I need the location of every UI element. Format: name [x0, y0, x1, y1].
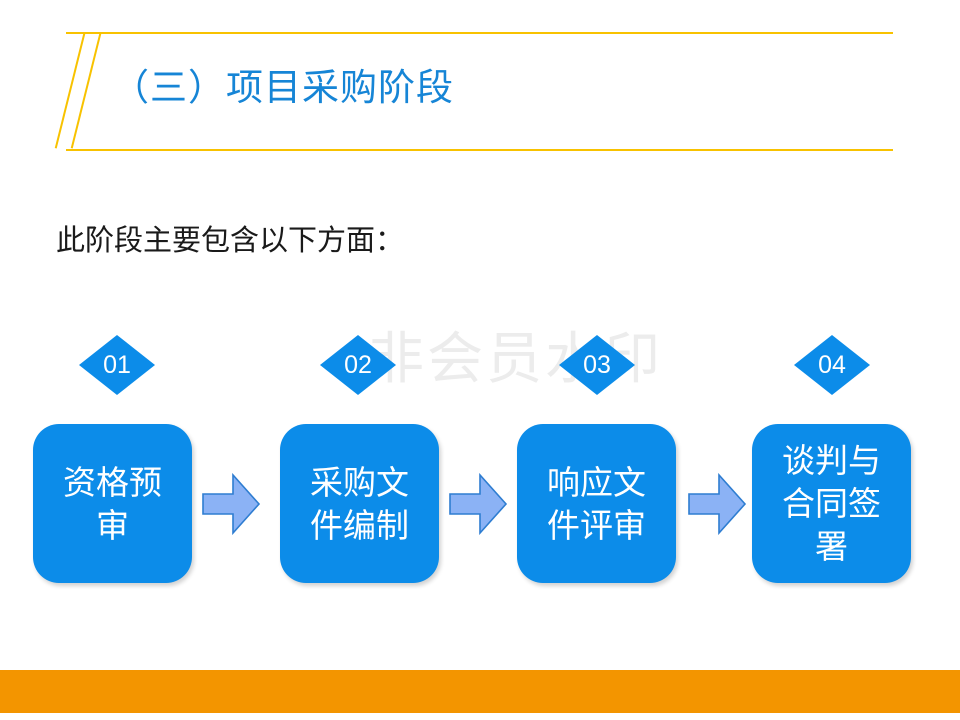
footer-bar	[0, 670, 960, 713]
step-box-label: 谈判与合同签署	[773, 439, 891, 568]
right-arrow-icon-2	[448, 473, 508, 535]
step-number-badge-03: 03	[559, 335, 635, 395]
step-box-03[interactable]: 响应文件评审	[517, 424, 676, 583]
step-box-01[interactable]: 资格预审	[33, 424, 192, 583]
step-number-badge-01: 01	[79, 335, 155, 395]
step-box-label: 资格预审	[54, 461, 172, 547]
slide-canvas: （三）项目采购阶段 此阶段主要包含以下方面： 非会员水印 01 资格预审 02 …	[0, 0, 960, 720]
step-number-label: 02	[344, 353, 372, 378]
right-arrow-icon-1	[201, 473, 261, 535]
step-number-badge-04: 04	[794, 335, 870, 395]
step-box-04[interactable]: 谈判与合同签署	[752, 424, 911, 583]
step-box-02[interactable]: 采购文件编制	[280, 424, 439, 583]
step-number-label: 01	[103, 353, 131, 378]
right-arrow-icon-3	[687, 473, 747, 535]
step-number-label: 04	[818, 353, 846, 378]
step-box-label: 响应文件评审	[538, 461, 656, 547]
step-number-label: 03	[583, 353, 611, 378]
process-flow-diagram: 01 资格预审 02 采购文件编制 03	[0, 0, 960, 720]
step-box-label: 采购文件编制	[301, 461, 419, 547]
step-number-badge-02: 02	[320, 335, 396, 395]
